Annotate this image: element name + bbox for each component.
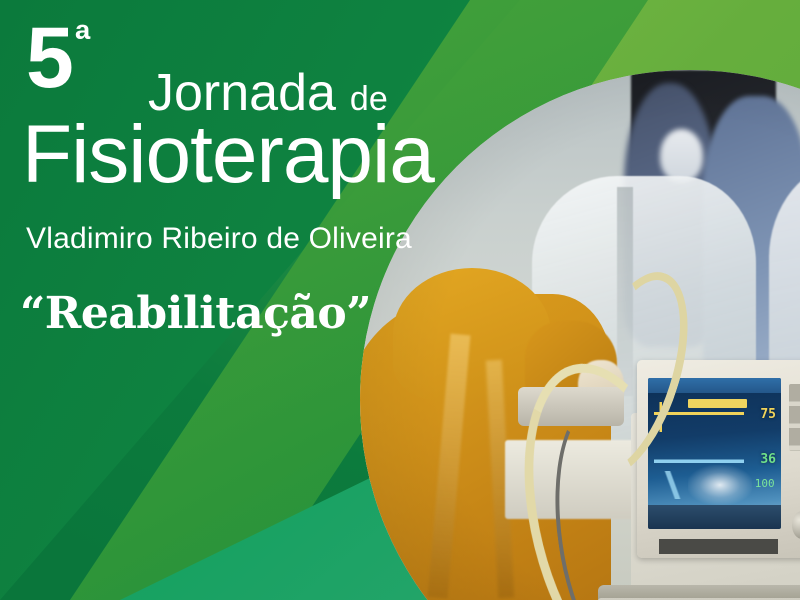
honoree-name: Vladimiro Ribeiro de Oliveira	[26, 222, 412, 256]
conference-poster: 75 36 100 B 5 ª Jornad	[0, 0, 800, 600]
edition-ordinal-suffix: ª	[75, 20, 91, 60]
edition-number: 5	[26, 18, 73, 100]
event-theme: “Reabilitação”	[20, 288, 371, 339]
poster-text-block: 5 ª Jornada de Fisioterapia Vladimiro Ri…	[0, 0, 560, 600]
edition-ordinal: 5 ª	[26, 18, 90, 100]
discipline-title: Fisioterapia	[22, 114, 434, 196]
